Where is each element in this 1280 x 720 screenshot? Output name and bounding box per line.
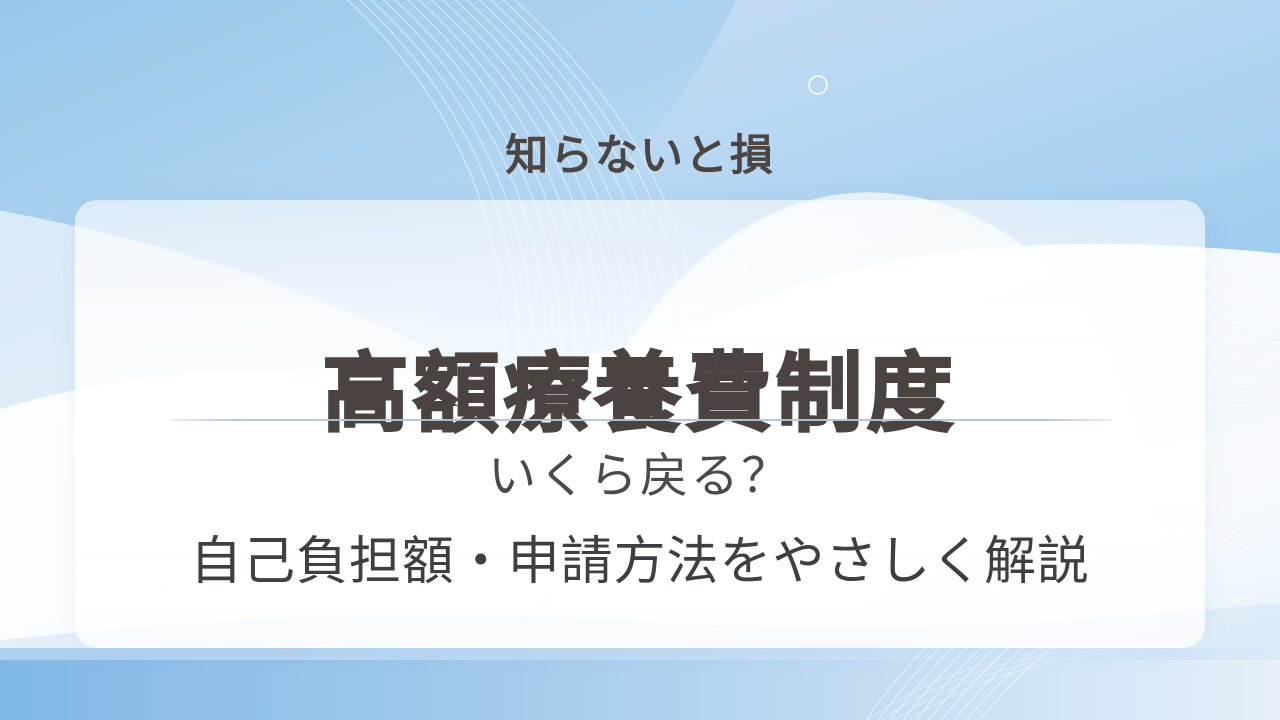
content-card — [75, 200, 1205, 648]
eyebrow-label: 知らないと損 — [0, 131, 1280, 183]
bottom-blue-band — [0, 648, 1280, 720]
arc-bundle-band — [820, 640, 1216, 720]
thumbnail-canvas: 知らないと損 高額療養費制度 いくら戻る？ 自己負担額・申請方法をやさしく解説 — [0, 0, 1280, 720]
circle-outline-icon — [809, 76, 827, 94]
